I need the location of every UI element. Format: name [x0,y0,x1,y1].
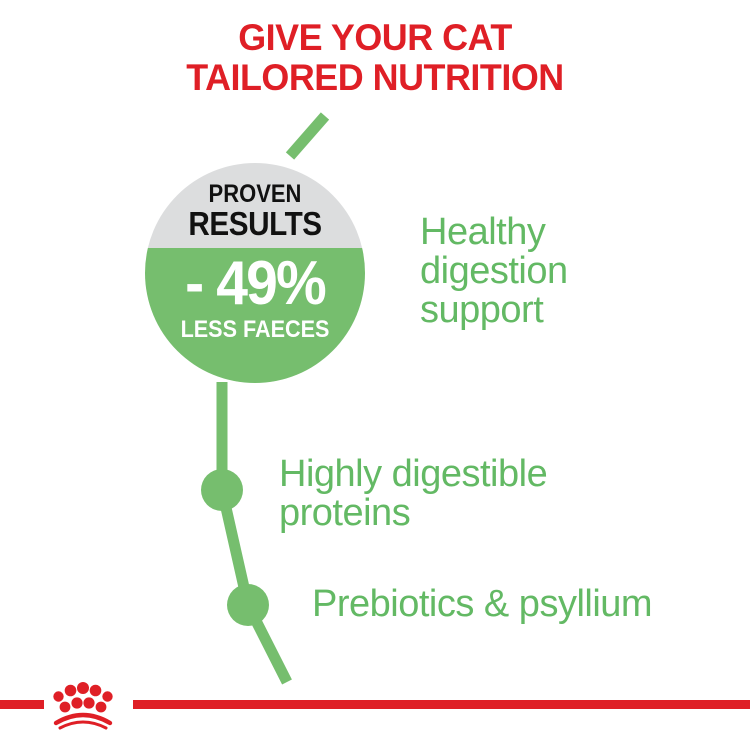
feature-1-line-1: Healthy [420,213,720,252]
feature-1-line-3: support [420,291,720,330]
footer-rule-right [133,700,750,709]
feature-3-line-1: Prebiotics & psyllium [312,585,742,624]
connector-dot-2 [227,584,269,626]
feature-prebiotics-and-psyllium: Prebiotics & psyllium [312,585,742,624]
feature-healthy-digestion-support: Healthy digestion support [420,213,720,329]
feature-highly-digestible-proteins: Highly digestible proteins [279,455,709,533]
infographic-page: GIVE YOUR CAT TAILORED NUTRITION [0,0,750,750]
feature-1-line-2: digestion [420,252,720,291]
footer-rule-left [0,700,44,709]
infographic-graphic [0,0,750,750]
royal-canin-crown-icon [53,682,112,728]
connector-dot-1 [201,469,243,511]
badge-pointer-tick [290,116,325,156]
feature-2-line-2: proteins [279,494,709,533]
connector-path [222,382,287,682]
feature-2-line-1: Highly digestible [279,455,709,494]
